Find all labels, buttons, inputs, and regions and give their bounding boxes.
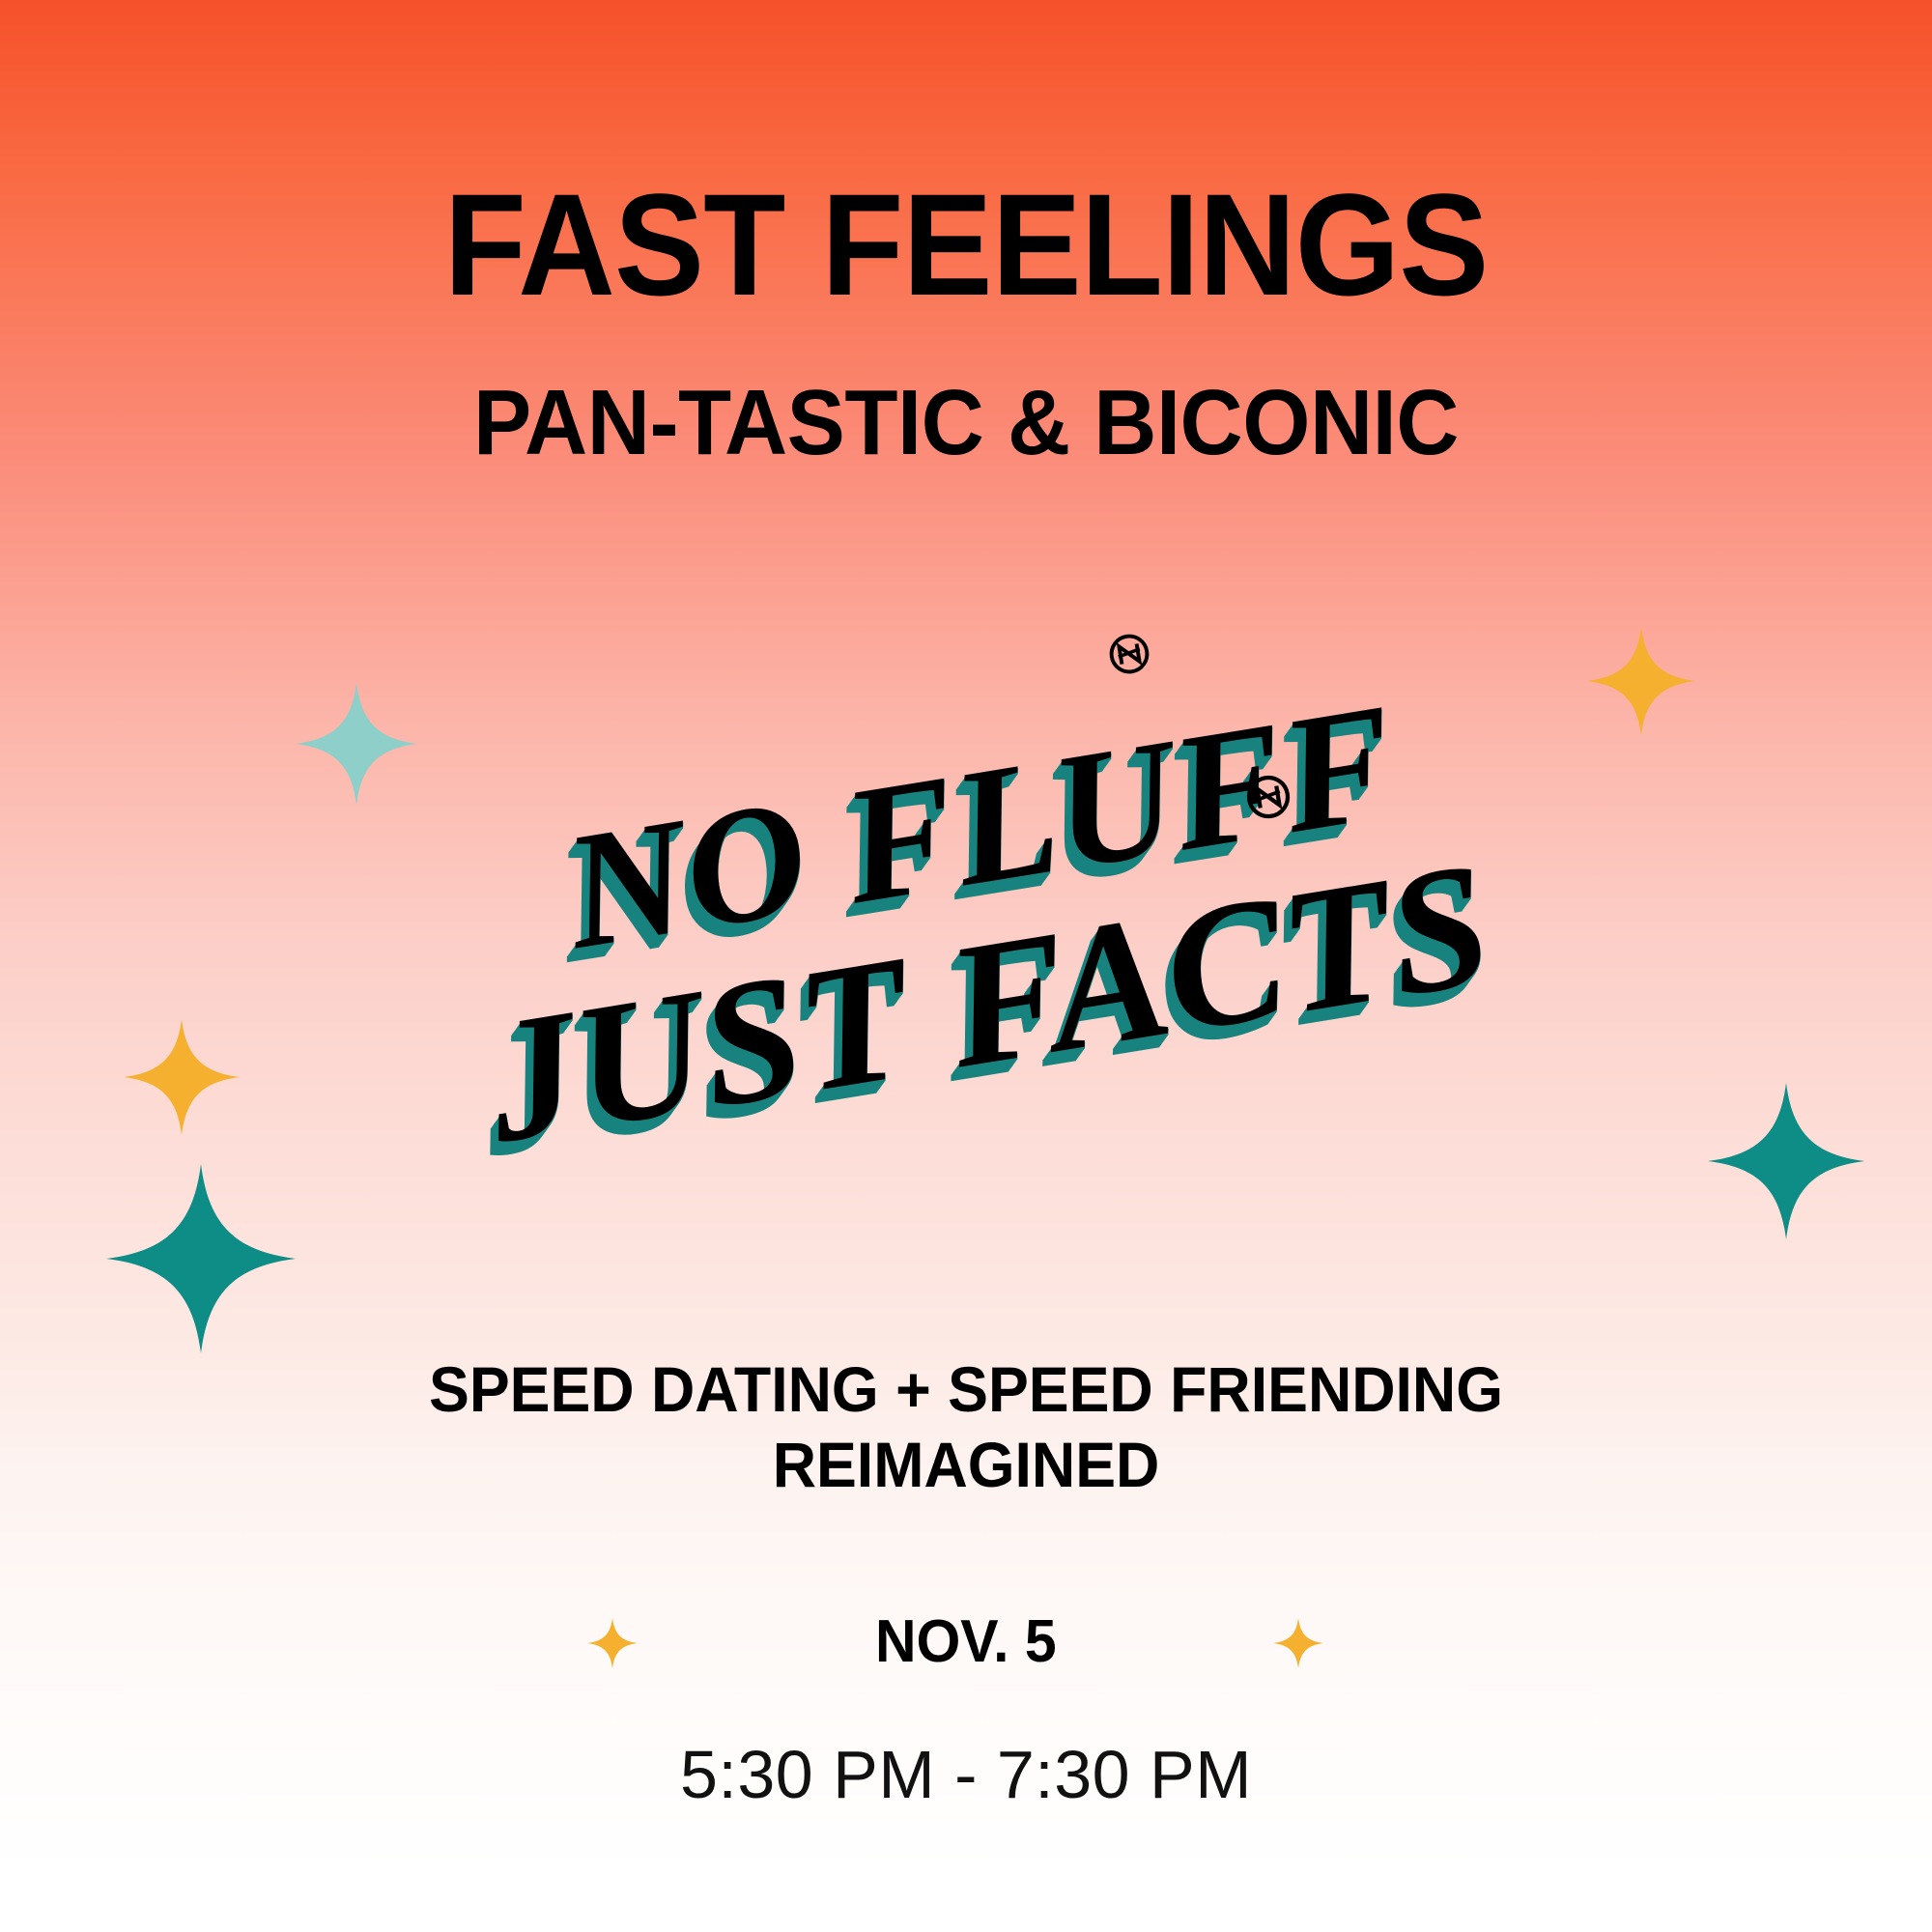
- headline-block: FAST FEELINGS PAN-TASTIC & BICONIC: [0, 172, 1932, 469]
- page-title: FAST FEELINGS: [68, 172, 1864, 317]
- date-row: NOV. 5: [0, 1612, 1932, 1690]
- event-date: NOV. 5: [875, 1612, 1057, 1672]
- tagline-line-1: SPEED DATING + SPEED FRIENDING: [48, 1352, 1884, 1428]
- sparkle-yellow-date-left-icon: [587, 1618, 638, 1678]
- event-poster: FAST FEELINGS PAN-TASTIC & BICONIC NO FL…: [0, 0, 1932, 1932]
- footer-block: SPEED DATING + SPEED FRIENDING REIMAGINE…: [0, 1352, 1932, 1876]
- trademark-monogram-icon-1: [1104, 629, 1155, 680]
- tagline-line-2: REIMAGINED: [48, 1428, 1884, 1503]
- slogan-block: NO FLUFF JUST FACTS: [0, 744, 1932, 1091]
- sparkle-yellow-date-right-icon: [1273, 1618, 1323, 1678]
- page-subtitle: PAN-TASTIC & BICONIC: [58, 317, 1874, 469]
- event-time: 5:30 PM - 7:30 PM: [0, 1741, 1932, 1808]
- trademark-monogram-icon-2: [1240, 769, 1295, 824]
